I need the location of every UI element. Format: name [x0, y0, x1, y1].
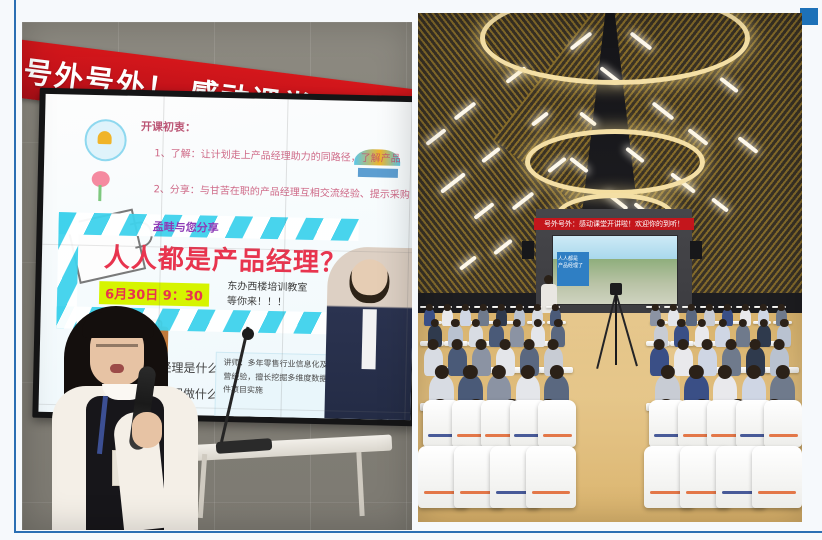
- audience-head: [654, 339, 665, 350]
- presenter-fringe: [82, 312, 154, 338]
- microphone-arm: [220, 327, 249, 443]
- audience-head: [451, 319, 459, 327]
- audience-member: [736, 325, 750, 347]
- presenter-hand: [132, 412, 162, 448]
- audience-member: [686, 309, 697, 326]
- accent-square: [800, 8, 818, 25]
- audience-head: [434, 365, 448, 379]
- tripod-leg: [596, 293, 617, 369]
- audience-head: [444, 304, 450, 310]
- ring-light: [525, 129, 705, 195]
- page-root: 号外号外！ 感动课堂开讲啦！ 欢迎 开课初衷： 1、了解：让计划走上产品经理助力…: [0, 0, 822, 540]
- female-presenter: [46, 300, 204, 530]
- audience-head: [776, 365, 790, 379]
- audience-member: [510, 325, 524, 347]
- audience-head: [702, 339, 713, 350]
- slide-venue-text: 东办西楼培训教室 等你来！！！: [227, 280, 308, 311]
- slide-share-label: 孟畦与您分享: [152, 218, 218, 235]
- audience-head: [726, 339, 737, 350]
- audience-head: [689, 365, 703, 379]
- audience-head: [463, 365, 477, 379]
- audience-head: [498, 304, 504, 310]
- microphone-head: [242, 328, 254, 340]
- audience-head: [550, 365, 564, 379]
- audience-head: [513, 319, 521, 327]
- tripod-leg: [615, 293, 638, 367]
- chair: [526, 446, 576, 509]
- flower-icon: [87, 171, 114, 202]
- audience-head: [670, 304, 676, 310]
- chair: [764, 400, 802, 448]
- speaker-presenting-photo: 号外号外！ 感动课堂开讲啦！ 欢迎 开课初衷： 1、了解：让计划走上产品经理助力…: [22, 22, 412, 530]
- wall-speaker: [690, 241, 702, 259]
- audience-head: [706, 304, 712, 310]
- audience-head: [534, 304, 540, 310]
- microphone-base: [216, 438, 273, 454]
- audience-head: [774, 339, 785, 350]
- slide-instructor-portrait: [324, 246, 412, 420]
- audience-head: [524, 339, 535, 350]
- chair: [538, 400, 576, 448]
- audience-head: [657, 319, 665, 327]
- audience-head: [778, 304, 784, 310]
- screen-title-panel-text: 人人都是 产品经理了: [558, 256, 588, 269]
- tripod-leg: [615, 293, 617, 365]
- audience-head: [780, 319, 788, 327]
- bell-icon: [84, 119, 127, 162]
- audience-head: [500, 339, 511, 350]
- audience-head: [652, 304, 658, 310]
- audience-head: [452, 339, 463, 350]
- wall-speaker: [522, 241, 534, 259]
- audience-head: [742, 304, 748, 310]
- audience-head: [718, 365, 732, 379]
- audience-head: [724, 304, 730, 310]
- audience-head: [677, 319, 685, 327]
- audience-head: [521, 365, 535, 379]
- audience-head: [747, 365, 761, 379]
- chair: [752, 446, 802, 509]
- audience-head: [480, 304, 486, 310]
- audience-head: [492, 365, 506, 379]
- audience-member: [460, 309, 471, 326]
- audience-head: [750, 339, 761, 350]
- audience-head: [492, 319, 500, 327]
- front-red-banner: 号外号外：感动课堂开讲啦！欢迎你的到听！: [534, 218, 694, 230]
- slide-point-1: 1、了解：让计划走上产品经理助力的同路径，了解产品: [154, 144, 401, 165]
- audience-head: [760, 319, 768, 327]
- audience-head: [739, 319, 747, 327]
- slide-purpose-title: 开课初衷：: [141, 118, 196, 135]
- audience-head: [426, 304, 432, 310]
- camera-tripod: [596, 283, 636, 373]
- slide-point-2: 2、分享：与甘苦在职的产品经理互相交流经验、提示采购: [153, 180, 410, 201]
- audience-head: [660, 365, 674, 379]
- audience-head: [476, 339, 487, 350]
- audience-head: [698, 319, 706, 327]
- gooseneck-microphone: [210, 324, 270, 452]
- training-room-audience-photo: 号外号外：感动课堂开讲啦！欢迎你的到听！ 人人都是 产品经理了: [418, 13, 802, 522]
- audience-head: [431, 319, 439, 327]
- audience-head: [554, 319, 562, 327]
- audience-head: [548, 339, 559, 350]
- audience-head: [688, 304, 694, 310]
- front-red-banner-text: 号外号外：感动课堂开讲啦！欢迎你的到听！: [544, 219, 684, 229]
- audience-head: [678, 339, 689, 350]
- table-leg: [356, 452, 364, 516]
- audience-head: [534, 319, 542, 327]
- audience-head: [760, 304, 766, 310]
- audience-head: [718, 319, 726, 327]
- audience-head: [472, 319, 480, 327]
- audience-head: [462, 304, 468, 310]
- audience-head: [428, 339, 439, 350]
- slide-main-title: 人人都是产品经理？: [104, 237, 348, 280]
- audience-head: [516, 304, 522, 310]
- audience-head: [552, 304, 558, 310]
